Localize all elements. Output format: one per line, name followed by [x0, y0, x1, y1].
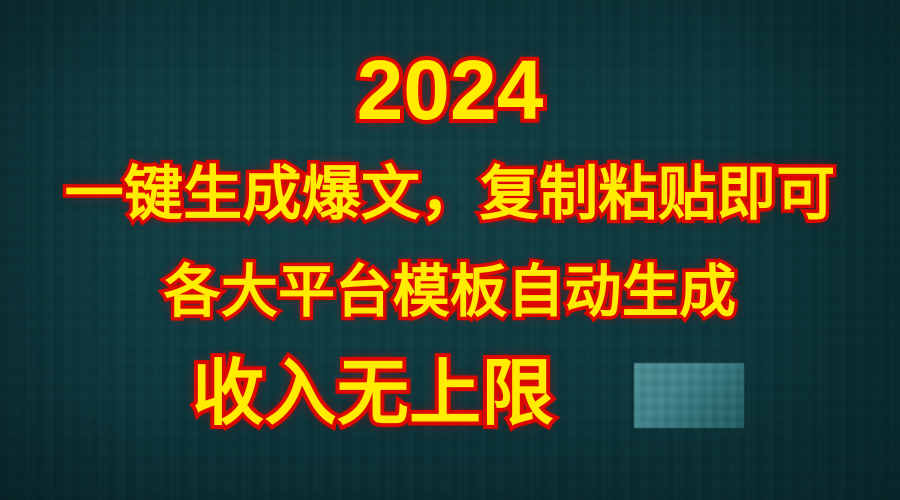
poster-subline: 各大平台模板自动生成	[0, 260, 900, 324]
poster-year-heading: 2024	[0, 44, 900, 136]
promo-poster: 2024 一键生成爆文，复制粘贴即可 各大平台模板自动生成 收入无上限	[0, 0, 900, 500]
blurred-censor-patch	[634, 363, 744, 428]
poster-headline: 一键生成爆文，复制粘贴即可	[0, 161, 900, 227]
poster-text-content: 2024 一键生成爆文，复制粘贴即可 各大平台模板自动生成 收入无上限	[0, 0, 900, 500]
